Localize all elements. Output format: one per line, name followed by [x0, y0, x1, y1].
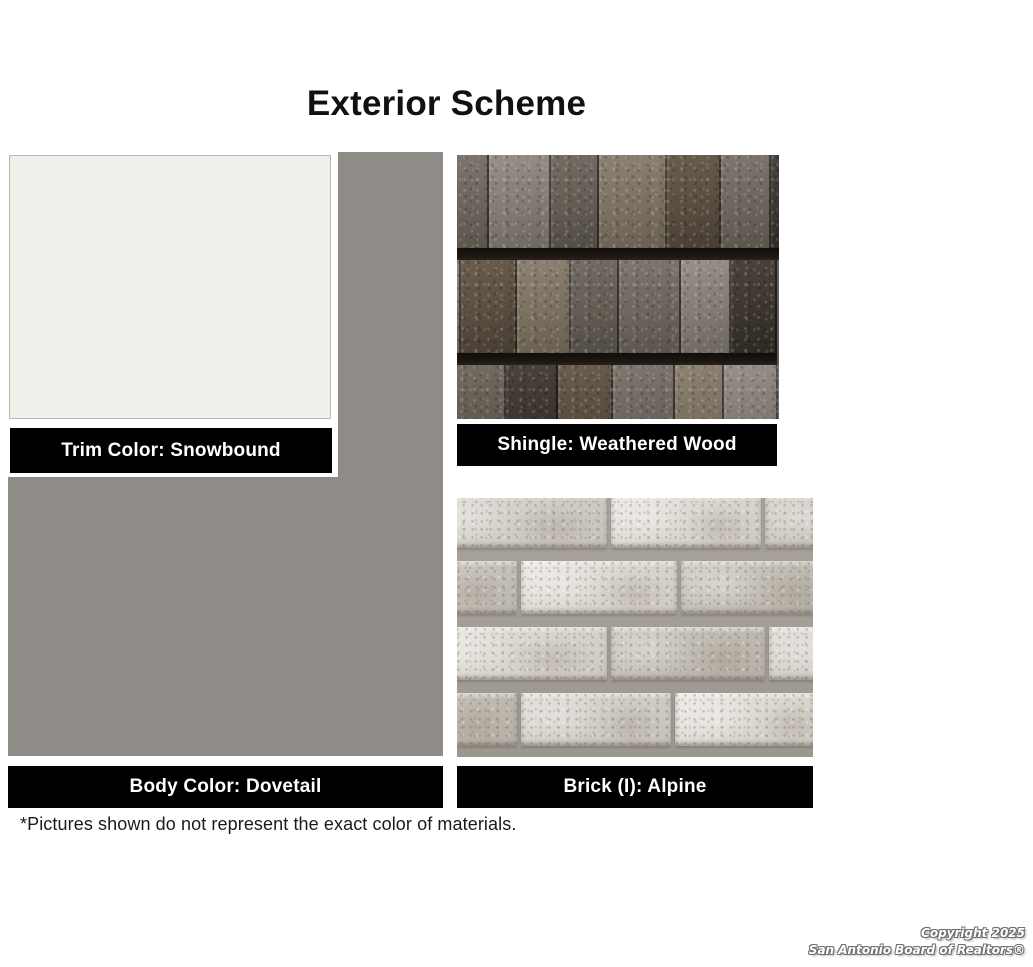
copyright-watermark: Copyright 2025 San Antonio Board of Real… [809, 925, 1025, 959]
brick-label: Brick (I): Alpine [457, 766, 813, 808]
page-title: Exterior Scheme [0, 82, 893, 126]
shingle-row [457, 260, 777, 356]
trim-color-swatch [9, 155, 331, 419]
shingle-row [457, 365, 779, 419]
brick-course [457, 624, 813, 686]
brick-photo [457, 498, 813, 757]
trim-color-label: Trim Color: Snowbound [10, 428, 332, 473]
exterior-scheme-board: Exterior Scheme [0, 0, 1033, 967]
shingle-photo [457, 155, 779, 419]
watermark-line-2: San Antonio Board of Realtors® [809, 942, 1025, 959]
watermark-line-1: Copyright 2025 [809, 925, 1025, 942]
shingle-row [457, 155, 779, 251]
disclaimer-text: *Pictures shown do not represent the exa… [20, 814, 516, 835]
brick-course [457, 690, 813, 752]
shingle-label: Shingle: Weathered Wood [457, 424, 777, 466]
brick-course [457, 558, 813, 620]
body-color-label: Body Color: Dovetail [8, 766, 443, 808]
brick-course [457, 498, 813, 554]
